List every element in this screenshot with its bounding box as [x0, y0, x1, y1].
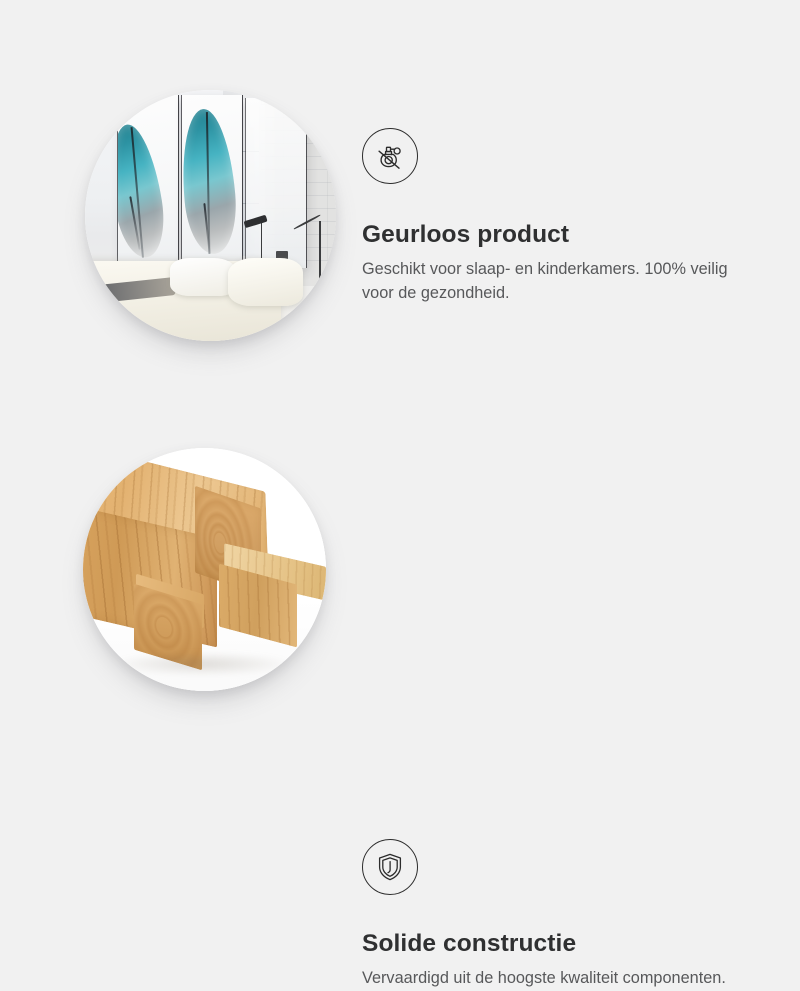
feature-block-geurloos-product: Geurloos product Geschikt voor slaap- en… [0, 60, 800, 400]
feature-title: Solide constructie [362, 931, 726, 958]
feather-illustration [182, 108, 240, 256]
feature-title: Geurloos product [362, 222, 754, 249]
feature-description: Vervaardigd uit de hoogste kwaliteit com… [362, 967, 726, 991]
art-panel-center [182, 95, 242, 276]
pillow [228, 258, 303, 306]
bedroom-feather-triptych-photo [85, 90, 336, 341]
shield-icon [362, 839, 418, 895]
no-fragrance-glyph [372, 138, 408, 174]
feather-illustration [118, 121, 170, 260]
art-panel-left [118, 95, 178, 276]
contact-shadow [112, 652, 292, 676]
feature-text-column: Solide constructie Vervaardigd uit de ho… [362, 839, 726, 991]
art-panel-right [246, 98, 306, 269]
bedroom-scene [85, 90, 336, 341]
wooden-beams-scene [83, 448, 326, 691]
pillow [170, 258, 235, 296]
feature-block-solide-constructie: Solide constructie Vervaardigd uit de ho… [0, 418, 800, 758]
no-fragrance-icon [362, 128, 418, 184]
wooden-beams-photo [83, 448, 326, 691]
bedside-lamp [319, 221, 321, 286]
feature-text-column: Geurloos product Geschikt voor slaap- en… [362, 128, 754, 305]
product-feature-banner: Geurloos product Geschikt voor slaap- en… [0, 0, 800, 800]
feature-description: Geschikt voor slaap- en kinderkamers. 10… [362, 258, 754, 305]
shield-glyph [373, 850, 407, 884]
